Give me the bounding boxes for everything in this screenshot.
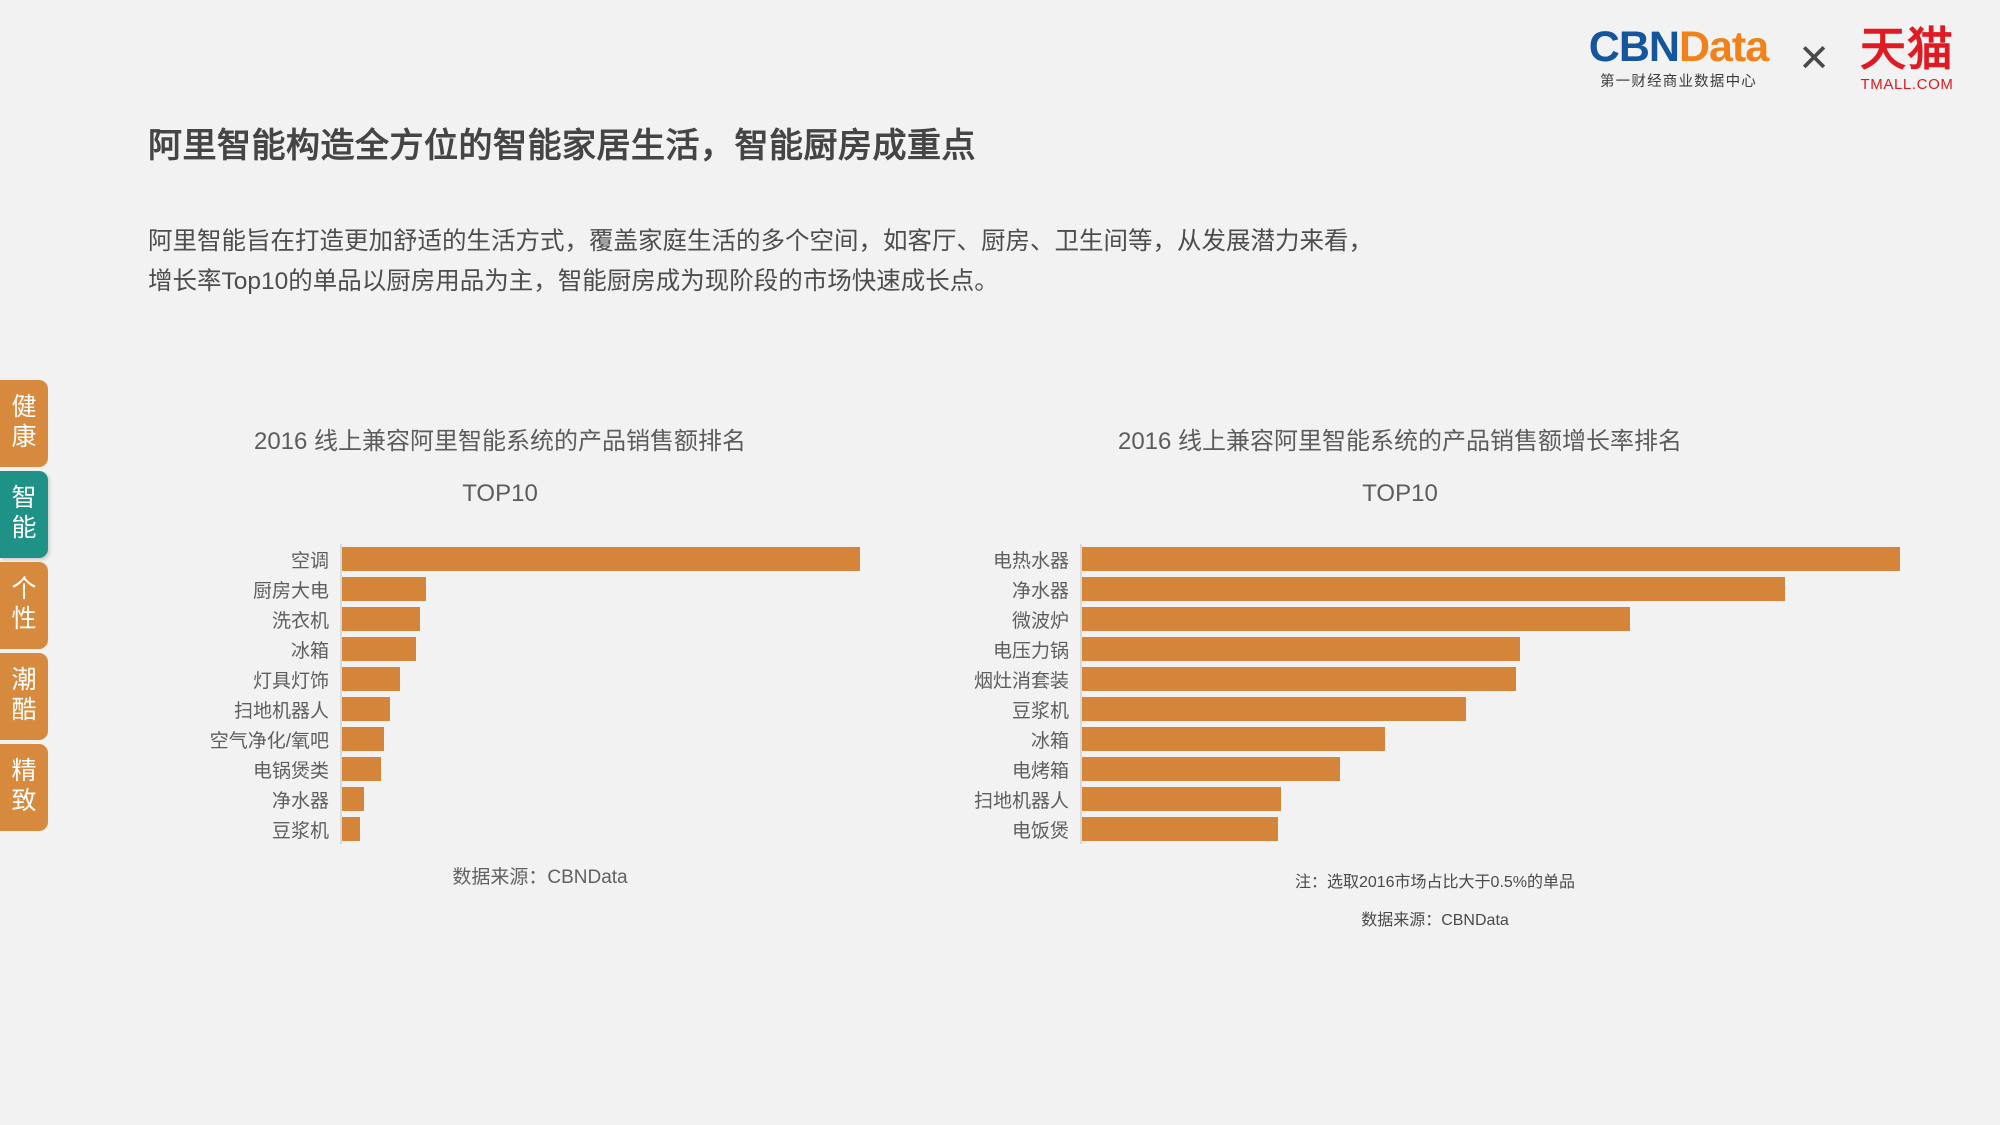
bar-row: 豆浆机 bbox=[140, 814, 860, 844]
bar-fill bbox=[1082, 787, 1281, 811]
bar-track bbox=[1080, 604, 1900, 634]
bar-track bbox=[340, 724, 860, 754]
bar-row: 冰箱 bbox=[900, 724, 1900, 754]
bar-fill bbox=[1082, 697, 1466, 721]
bar-fill bbox=[342, 727, 384, 751]
bar-fill bbox=[342, 577, 426, 601]
bar-track bbox=[340, 784, 860, 814]
sales-rank-source-note: 数据来源：CBNData bbox=[140, 862, 860, 889]
bar-row: 烟灶消套装 bbox=[900, 664, 1900, 694]
sales-rank-plot: 空调厨房大电洗衣机冰箱灯具灯饰扫地机器人空气净化/氧吧电锅煲类净水器豆浆机 bbox=[140, 544, 860, 844]
bar-row: 电锅煲类 bbox=[140, 754, 860, 784]
bar-category-label: 电压力锅 bbox=[900, 636, 1080, 663]
sidebar-item-health[interactable]: 健 康 bbox=[0, 380, 48, 467]
growth-rank-chart-title: 2016 线上兼容阿里智能系统的产品销售额增长率排名 TOP10 bbox=[900, 430, 1900, 506]
sidebar-tab-rail: 健 康 智 能 个 性 潮 酷 精 致 bbox=[0, 380, 48, 831]
bar-track bbox=[1080, 694, 1900, 724]
bar-track bbox=[1080, 664, 1900, 694]
brand-bar: CBNData 第一财经商业数据中心 ✕ 天猫 TMALL.COM bbox=[1589, 26, 1954, 92]
growth-rank-chart-subtitle: TOP10 bbox=[900, 482, 1900, 506]
tmall-logo: 天猫 TMALL.COM bbox=[1860, 26, 1954, 92]
bar-row: 微波炉 bbox=[900, 604, 1900, 634]
bar-row: 电烤箱 bbox=[900, 754, 1900, 784]
bar-track bbox=[1080, 754, 1900, 784]
bar-track bbox=[340, 604, 860, 634]
growth-rank-plot: 电热水器净水器微波炉电压力锅烟灶消套装豆浆机冰箱电烤箱扫地机器人电饭煲 bbox=[900, 544, 1900, 844]
growth-rank-chart: 2016 线上兼容阿里智能系统的产品销售额增长率排名 TOP10 电热水器净水器… bbox=[900, 430, 1900, 930]
bar-fill bbox=[1082, 727, 1385, 751]
sidebar-item-trendy-char-2: 酷 bbox=[0, 696, 48, 726]
bar-track bbox=[340, 814, 860, 844]
bar-category-label: 烟灶消套装 bbox=[900, 666, 1080, 693]
sidebar-item-health-char-1: 健 bbox=[0, 393, 48, 423]
cbndata-cbn-text: CBN bbox=[1589, 23, 1679, 71]
bar-track bbox=[1080, 784, 1900, 814]
bar-track bbox=[1080, 574, 1900, 604]
sidebar-item-health-char-2: 康 bbox=[0, 423, 48, 453]
bar-fill bbox=[342, 787, 364, 811]
tmall-chinese-wordmark: 天猫 bbox=[1860, 26, 1954, 72]
bar-track bbox=[340, 544, 860, 574]
sidebar-item-exquisite[interactable]: 精 致 bbox=[0, 744, 48, 831]
page-title: 阿里智能构造全方位的智能家居生活，智能厨房成重点 bbox=[148, 118, 976, 167]
sidebar-item-trendy[interactable]: 潮 酷 bbox=[0, 653, 48, 740]
growth-rank-source-note: 数据来源：CBNData bbox=[970, 906, 1900, 930]
bar-category-label: 厨房大电 bbox=[140, 576, 340, 603]
sidebar-item-smart-char-2: 能 bbox=[0, 514, 48, 544]
bar-fill bbox=[342, 607, 420, 631]
sidebar-item-personality-char-1: 个 bbox=[0, 575, 48, 605]
bar-track bbox=[340, 634, 860, 664]
sidebar-item-exquisite-char-1: 精 bbox=[0, 757, 48, 787]
sidebar-item-personality-char-2: 性 bbox=[0, 605, 48, 635]
bar-fill bbox=[342, 817, 360, 841]
bar-fill bbox=[1082, 817, 1278, 841]
bar-fill bbox=[342, 547, 860, 571]
bar-category-label: 灯具灯饰 bbox=[140, 666, 340, 693]
bar-track bbox=[340, 694, 860, 724]
bar-category-label: 洗衣机 bbox=[140, 606, 340, 633]
bar-category-label: 空气净化/氧吧 bbox=[140, 726, 340, 753]
bar-row: 电饭煲 bbox=[900, 814, 1900, 844]
bar-fill bbox=[342, 757, 381, 781]
bar-track bbox=[1080, 724, 1900, 754]
bar-track bbox=[340, 664, 860, 694]
bar-category-label: 电锅煲类 bbox=[140, 756, 340, 783]
growth-rank-chart-title-main: 2016 线上兼容阿里智能系统的产品销售额增长率排名 bbox=[1118, 428, 1682, 455]
bar-row: 豆浆机 bbox=[900, 694, 1900, 724]
growth-rank-footnote: 注：选取2016市场占比大于0.5%的单品 bbox=[970, 868, 1900, 892]
bar-category-label: 净水器 bbox=[140, 786, 340, 813]
bar-row: 扫地机器人 bbox=[140, 694, 860, 724]
sales-rank-chart: 2016 线上兼容阿里智能系统的产品销售额排名 TOP10 空调厨房大电洗衣机冰… bbox=[140, 430, 860, 889]
bar-category-label: 微波炉 bbox=[900, 606, 1080, 633]
bar-category-label: 豆浆机 bbox=[140, 816, 340, 843]
sidebar-item-personality[interactable]: 个 性 bbox=[0, 562, 48, 649]
bar-row: 灯具灯饰 bbox=[140, 664, 860, 694]
sales-rank-chart-subtitle: TOP10 bbox=[140, 482, 860, 506]
bar-category-label: 冰箱 bbox=[140, 636, 340, 663]
bar-row: 空调 bbox=[140, 544, 860, 574]
lead-line-1: 阿里智能旨在打造更加舒适的生活方式，覆盖家庭生活的多个空间，如客厅、厨房、卫生间… bbox=[148, 222, 1848, 262]
bar-category-label: 豆浆机 bbox=[900, 696, 1080, 723]
bar-fill bbox=[1082, 607, 1630, 631]
bar-row: 洗衣机 bbox=[140, 604, 860, 634]
bar-track bbox=[1080, 814, 1900, 844]
bar-fill bbox=[342, 667, 400, 691]
lead-line-2: 增长率Top10的单品以厨房用品为主，智能厨房成为现阶段的市场快速成长点。 bbox=[148, 262, 1848, 302]
bar-row: 厨房大电 bbox=[140, 574, 860, 604]
sidebar-item-exquisite-char-2: 致 bbox=[0, 787, 48, 817]
sales-rank-chart-title-main: 2016 线上兼容阿里智能系统的产品销售额排名 bbox=[254, 428, 746, 455]
bar-fill bbox=[342, 637, 416, 661]
bar-category-label: 扫地机器人 bbox=[900, 786, 1080, 813]
sidebar-item-smart[interactable]: 智 能 bbox=[0, 471, 48, 558]
cbndata-data-text: Data bbox=[1679, 23, 1768, 71]
bar-row: 电压力锅 bbox=[900, 634, 1900, 664]
bar-category-label: 电烤箱 bbox=[900, 756, 1080, 783]
bar-fill bbox=[1082, 667, 1516, 691]
bar-track bbox=[1080, 544, 1900, 574]
cbndata-wordmark: CBNData bbox=[1589, 26, 1768, 69]
sales-rank-chart-title: 2016 线上兼容阿里智能系统的产品销售额排名 TOP10 bbox=[140, 430, 860, 506]
bar-track bbox=[340, 574, 860, 604]
sidebar-item-smart-char-1: 智 bbox=[0, 484, 48, 514]
tmall-english-wordmark: TMALL.COM bbox=[1861, 77, 1954, 92]
bar-category-label: 空调 bbox=[140, 546, 340, 573]
growth-rank-notes: 注：选取2016市场占比大于0.5%的单品 数据来源：CBNData bbox=[900, 868, 1900, 930]
bar-category-label: 扫地机器人 bbox=[140, 696, 340, 723]
bar-track bbox=[1080, 634, 1900, 664]
sidebar-item-trendy-char-1: 潮 bbox=[0, 666, 48, 696]
bar-fill bbox=[1082, 757, 1340, 781]
bar-row: 扫地机器人 bbox=[900, 784, 1900, 814]
bar-row: 净水器 bbox=[140, 784, 860, 814]
bar-fill bbox=[1082, 577, 1785, 601]
cbndata-subtitle: 第一财经商业数据中心 bbox=[1600, 75, 1757, 90]
bar-category-label: 冰箱 bbox=[900, 726, 1080, 753]
bar-row: 空气净化/氧吧 bbox=[140, 724, 860, 754]
bar-category-label: 净水器 bbox=[900, 576, 1080, 603]
bar-fill bbox=[342, 697, 390, 721]
bar-row: 净水器 bbox=[900, 574, 1900, 604]
cbndata-logo: CBNData 第一财经商业数据中心 bbox=[1589, 26, 1768, 90]
bar-track bbox=[340, 754, 860, 784]
bar-category-label: 电饭煲 bbox=[900, 816, 1080, 843]
bar-row: 冰箱 bbox=[140, 634, 860, 664]
lead-paragraph: 阿里智能旨在打造更加舒适的生活方式，覆盖家庭生活的多个空间，如客厅、厨房、卫生间… bbox=[148, 222, 1848, 301]
multiply-icon: ✕ bbox=[1798, 40, 1830, 78]
bar-fill bbox=[1082, 637, 1520, 661]
bar-row: 电热水器 bbox=[900, 544, 1900, 574]
bar-fill bbox=[1082, 547, 1900, 571]
bar-category-label: 电热水器 bbox=[900, 546, 1080, 573]
